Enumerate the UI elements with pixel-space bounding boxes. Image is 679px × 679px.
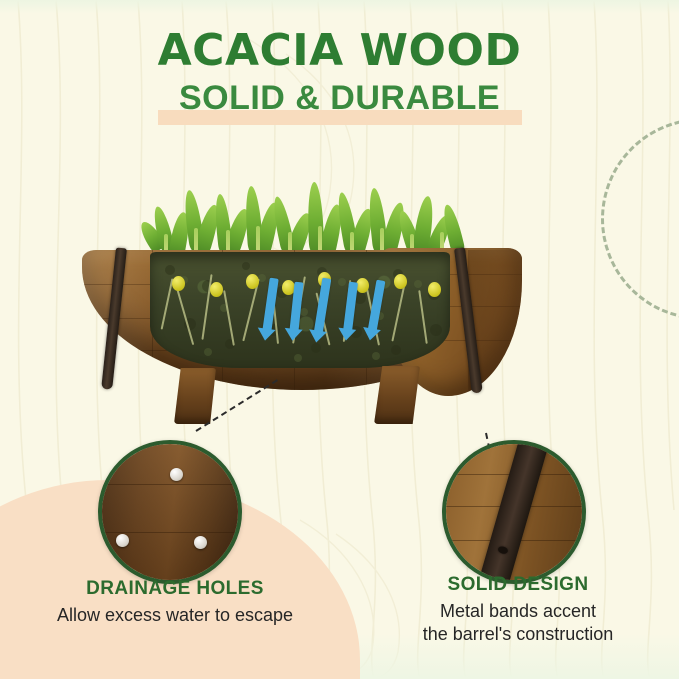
detail-circle-design — [442, 440, 586, 584]
bulb-icon — [246, 274, 259, 289]
drainage-hole-icon — [194, 536, 207, 549]
caption-solid-design: SOLID DESIGN Metal bands accent the barr… — [368, 574, 668, 645]
drainage-hole-icon — [170, 468, 183, 481]
barrel-leg-left — [174, 368, 216, 424]
top-tint-band — [0, 0, 679, 14]
bulb-icon — [172, 276, 185, 291]
drainage-hole-icon — [116, 534, 129, 547]
caption-line: Allow excess water to escape — [20, 604, 330, 627]
soil-cutaway — [150, 252, 450, 368]
detail-drainage-holes — [98, 440, 242, 584]
bulb-icon — [210, 282, 223, 297]
infographic-canvas: ACACIA WOOD SOLID & DURABLE — [0, 0, 679, 679]
product-image — [82, 168, 522, 448]
caption-drainage-holes: DRAINAGE HOLES Allow excess water to esc… — [20, 578, 330, 627]
caption-title: DRAINAGE HOLES — [20, 578, 330, 600]
bulb-icon — [394, 274, 407, 289]
barrel-base-closeup-image — [102, 444, 238, 580]
caption-line: the barrel's construction — [368, 623, 668, 646]
bulb-icon — [356, 278, 369, 293]
detail-solid-design — [442, 440, 586, 584]
page-title: ACACIA WOOD — [0, 28, 679, 74]
header: ACACIA WOOD SOLID & DURABLE — [0, 28, 679, 124]
page-subtitle: SOLID & DURABLE — [0, 80, 679, 117]
detail-circle-drainage — [98, 440, 242, 584]
seedling-plants — [142, 168, 472, 260]
caption-line: Metal bands accent — [368, 600, 668, 623]
caption-title: SOLID DESIGN — [368, 574, 668, 596]
rivet-icon — [497, 545, 509, 554]
bulb-icon — [428, 282, 441, 297]
